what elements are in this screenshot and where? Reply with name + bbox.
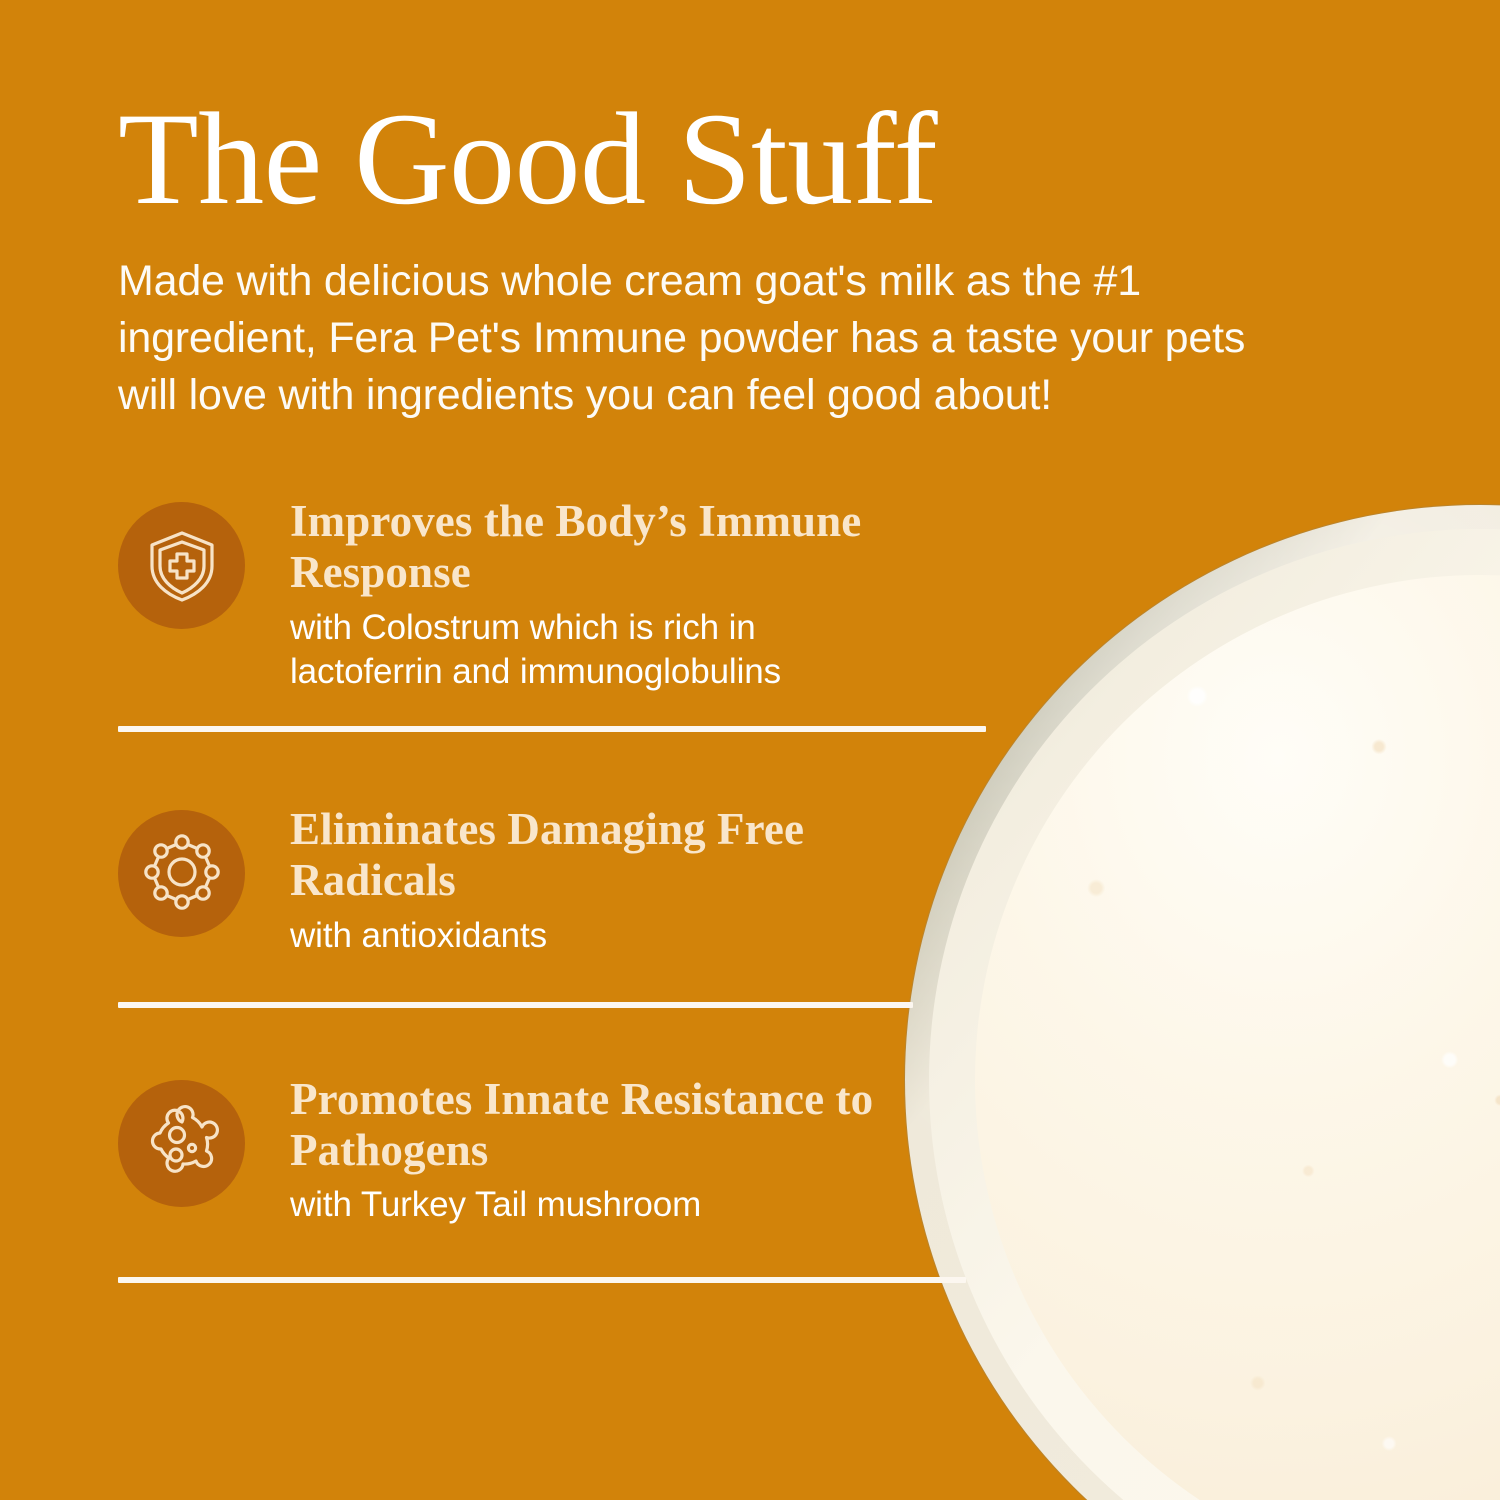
- benefit-text: Promotes Innate Resistance to Pathogens …: [290, 1074, 1018, 1228]
- benefit-divider: [118, 1277, 966, 1283]
- infographic-canvas: The Good Stuff Made with delicious whole…: [0, 0, 1500, 1500]
- benefit-title: Eliminates Damaging Free Radicals: [290, 804, 890, 907]
- goat-milk-surface: [975, 575, 1500, 1500]
- benefit-text: Eliminates Damaging Free Radicals with a…: [290, 804, 1018, 958]
- benefit-item: Eliminates Damaging Free Radicals with a…: [118, 804, 1018, 958]
- benefit-text: Improves the Body’s Immune Response with…: [290, 496, 1018, 694]
- benefit-subtitle: with antioxidants: [290, 914, 910, 958]
- antioxidant-molecule-icon: [118, 810, 245, 937]
- benefit-title: Improves the Body’s Immune Response: [290, 496, 890, 599]
- benefits-list: Improves the Body’s Immune Response with…: [118, 496, 1018, 1283]
- page-title: The Good Stuff: [118, 0, 1018, 227]
- benefit-item: Promotes Innate Resistance to Pathogens …: [118, 1074, 1018, 1228]
- benefit-subtitle: with Turkey Tail mushroom: [290, 1183, 910, 1227]
- pathogen-virus-icon: [118, 1080, 245, 1207]
- content-column: The Good Stuff Made with delicious whole…: [118, 0, 1018, 1500]
- benefit-title: Promotes Innate Resistance to Pathogens: [290, 1074, 890, 1177]
- intro-paragraph: Made with delicious whole cream goat's m…: [118, 253, 1283, 425]
- benefit-item: Improves the Body’s Immune Response with…: [118, 496, 1018, 694]
- benefit-subtitle: with Colostrum which is rich in lactofer…: [290, 606, 910, 694]
- shield-cross-icon: [118, 502, 245, 629]
